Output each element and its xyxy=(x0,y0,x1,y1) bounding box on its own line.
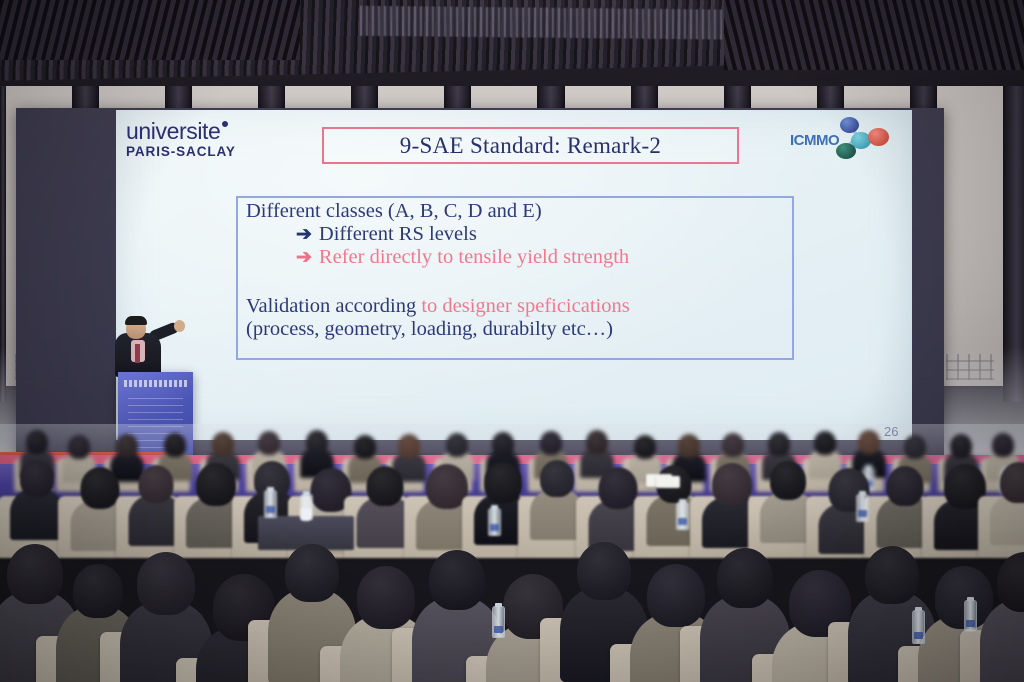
audience-head xyxy=(865,546,919,604)
audience-head xyxy=(1000,462,1024,503)
audience-head xyxy=(634,435,656,459)
universite-paris-saclay-logo: universite PARIS-SACLAY xyxy=(126,120,276,159)
audience-member xyxy=(10,460,64,546)
audience-head xyxy=(285,544,339,602)
audience-head xyxy=(770,461,806,500)
molecule-sphere-icon xyxy=(840,117,859,133)
speaker-hand xyxy=(174,320,185,332)
slide-line-1-text: Different classes (A, B, C, D and E) xyxy=(246,200,542,222)
audience-head xyxy=(258,431,280,455)
bottle-cap xyxy=(267,487,274,491)
paragraph-part-1: Validation according xyxy=(246,295,421,317)
audience-head xyxy=(80,467,119,509)
water-bottle xyxy=(856,494,869,522)
audience-head xyxy=(73,564,123,618)
logo-line2: PARIS-SACLAY xyxy=(126,145,276,159)
water-bottle xyxy=(912,610,925,644)
slide-line-1: Different classes (A, B, C, D and E) xyxy=(246,200,786,223)
water-bottle xyxy=(264,490,277,518)
audience-head xyxy=(446,433,468,457)
wall-panel xyxy=(937,86,1003,386)
arrow-right-icon: ➔ xyxy=(296,247,312,268)
water-bottle xyxy=(964,600,977,632)
podium-header-text xyxy=(124,380,187,387)
audience-head xyxy=(116,434,138,458)
audience xyxy=(0,424,1024,682)
arrow-right-icon: ➔ xyxy=(296,224,312,245)
spacer xyxy=(246,269,786,295)
audience-head xyxy=(858,430,880,454)
audience-head xyxy=(357,566,415,629)
ceiling-left-slats xyxy=(0,0,300,60)
audience-head xyxy=(768,432,790,456)
name-card xyxy=(656,476,680,488)
audience-head xyxy=(20,460,54,497)
audience-head xyxy=(647,564,705,627)
water-bottle xyxy=(492,606,505,638)
bottle-cap xyxy=(495,603,502,607)
speaker-hair xyxy=(125,316,147,325)
bottle-cap xyxy=(491,505,498,509)
logo-dot-icon xyxy=(222,121,228,127)
slide-line-2-text: Different RS levels xyxy=(319,223,477,245)
slide-line-2: ➔Different RS levels xyxy=(246,223,786,246)
bottle-cap xyxy=(303,491,310,495)
audience-head xyxy=(137,552,195,615)
slide-paragraph-line-1: Validation according to designer spefici… xyxy=(246,295,786,318)
molecule-sphere-icon xyxy=(868,128,889,146)
ceiling xyxy=(0,0,1024,96)
audience-head xyxy=(886,466,923,506)
paragraph-part-2: to designer speficications xyxy=(421,295,629,317)
audience-member xyxy=(990,462,1024,552)
conference-hall-photo: universite PARIS-SACLAY 9-SAE Standard: … xyxy=(0,0,1024,682)
slide-line-3: ➔Refer directly to tensile yield strengt… xyxy=(246,246,786,269)
water-bottle xyxy=(676,502,689,530)
audience-head xyxy=(577,542,631,600)
audience-head xyxy=(540,431,562,455)
slide-line-3-text: Refer directly to tensile yield strength xyxy=(319,246,629,268)
audience-head xyxy=(7,544,63,604)
audience-head xyxy=(366,466,403,506)
audience-head xyxy=(950,434,972,458)
bottle-cap xyxy=(679,499,686,503)
audience-head xyxy=(429,550,485,610)
icmmo-logo: ICMMO xyxy=(790,116,900,160)
audience-head xyxy=(814,431,836,455)
audience-head xyxy=(712,463,752,506)
audience-head xyxy=(398,434,420,458)
audience-head xyxy=(354,435,376,459)
ceiling-right-slats xyxy=(724,0,1024,70)
bottle-cap xyxy=(915,607,922,611)
audience-head xyxy=(68,435,90,459)
audience-head xyxy=(138,465,173,503)
molecule-sphere-icon xyxy=(836,143,856,159)
icmmo-logo-text: ICMMO xyxy=(790,132,839,149)
audience-head xyxy=(598,467,637,509)
audience-head xyxy=(678,434,700,458)
water-bottle xyxy=(488,508,501,536)
audience-head xyxy=(722,433,744,457)
audience-head xyxy=(484,462,522,503)
bottle-cap xyxy=(859,491,866,495)
audience-head xyxy=(306,430,328,454)
bottle-cap xyxy=(967,597,974,601)
paper-cup xyxy=(300,508,312,521)
audience-head xyxy=(26,430,48,454)
slide-body-text: Different classes (A, B, C, D and E) ➔Di… xyxy=(246,200,786,341)
audience-head xyxy=(992,433,1014,457)
slide-paragraph-line-2: (process, geometry, loading, durabilty e… xyxy=(246,318,786,341)
audience-head xyxy=(717,548,773,608)
audience-head xyxy=(212,432,234,456)
audience-head xyxy=(586,430,608,454)
logo-line1: universite xyxy=(126,118,220,144)
slide-title-box: 9-SAE Standard: Remark-2 xyxy=(322,127,739,164)
audience-head xyxy=(196,463,236,506)
audience-head xyxy=(540,460,574,497)
audience-head xyxy=(164,433,186,457)
audience-head xyxy=(904,435,926,459)
speaker-tie xyxy=(135,344,140,363)
slide-title: 9-SAE Standard: Remark-2 xyxy=(400,133,661,159)
audience-head xyxy=(492,432,514,456)
audience-member xyxy=(980,552,1024,682)
